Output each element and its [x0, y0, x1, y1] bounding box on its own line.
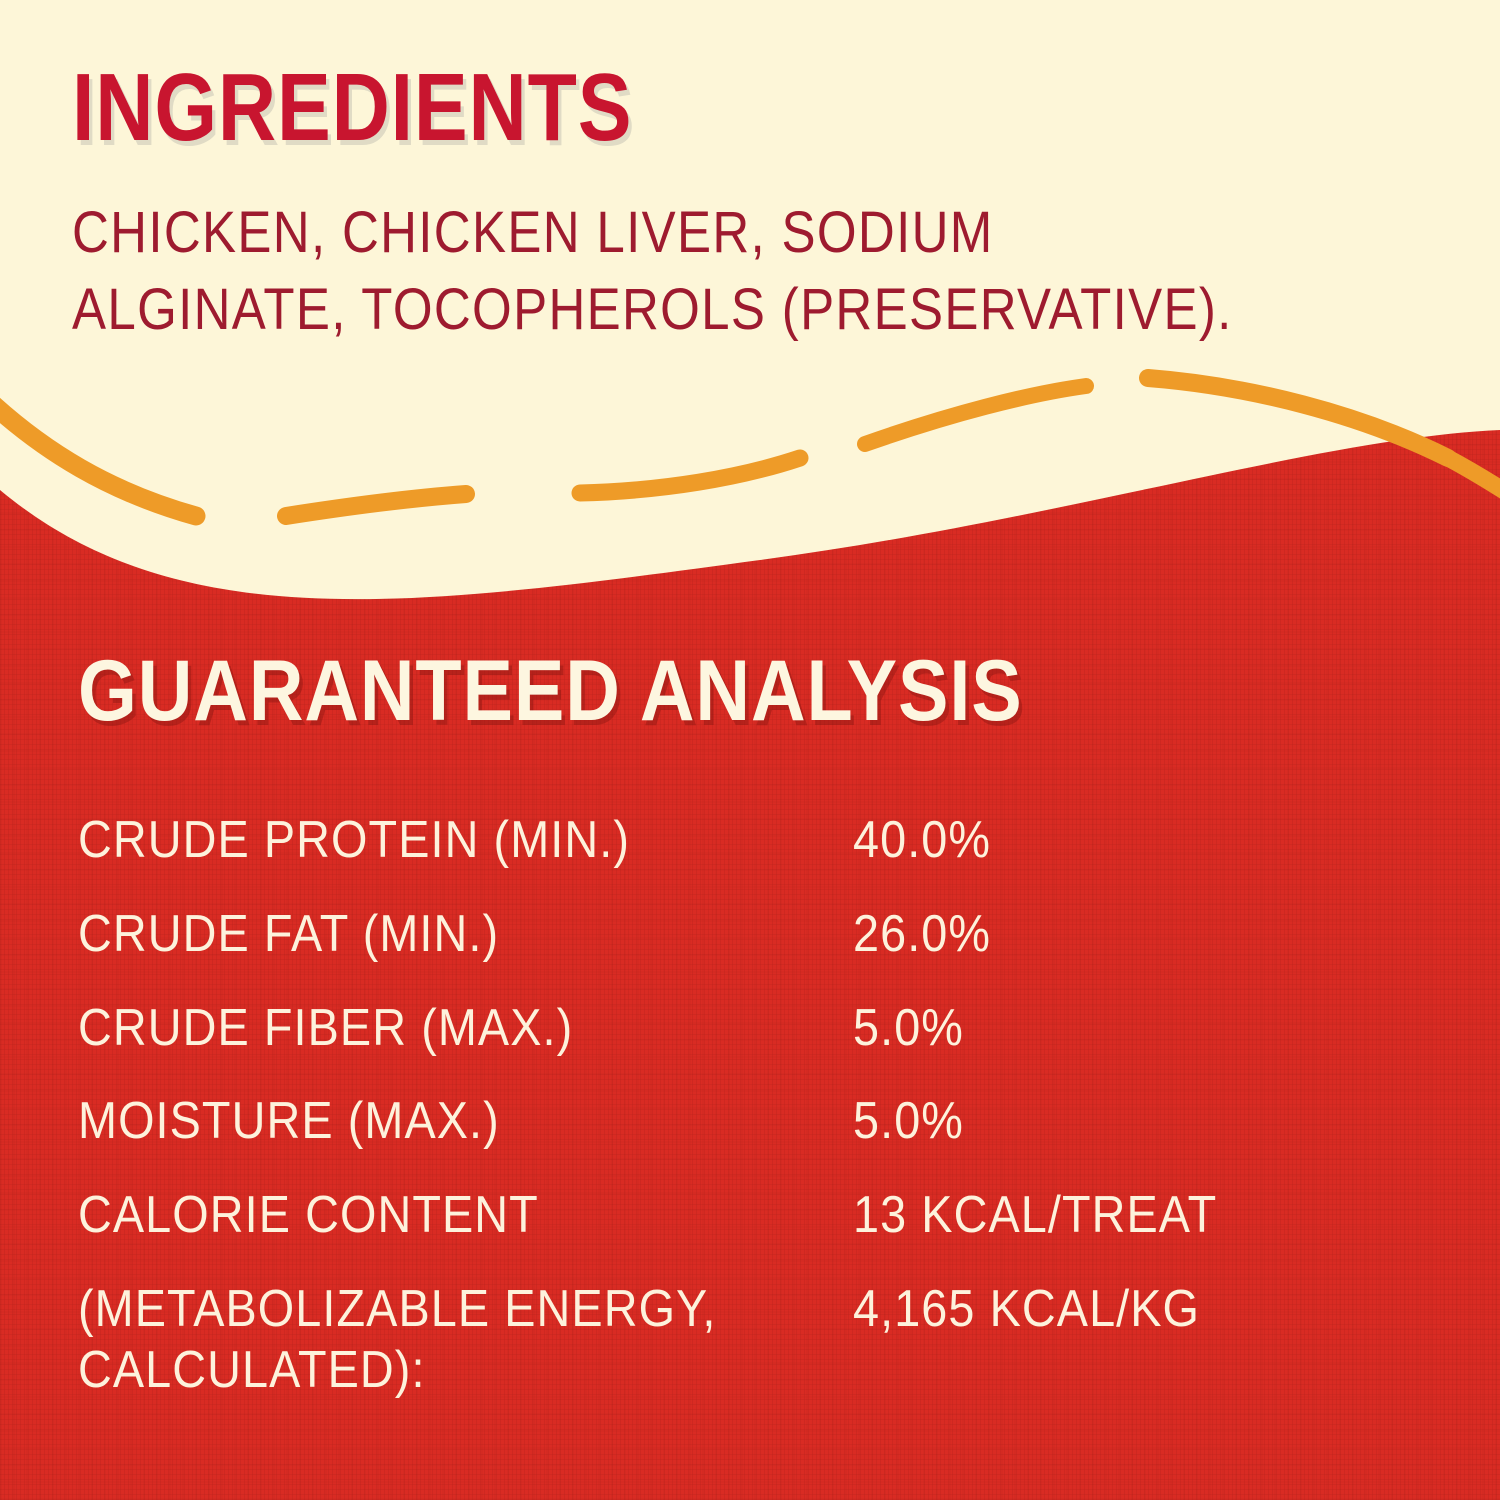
analysis-label-cell: (METABOLIZABLE ENERGY, CALCULATED):: [78, 1279, 853, 1401]
table-row: CALORIE CONTENT 13 KCAL/TREAT: [78, 1185, 1408, 1279]
analysis-value-text: 40.0%: [853, 810, 991, 871]
analysis-value-cell: 5.0%: [853, 998, 1408, 1092]
analysis-label-cell: CRUDE FIBER (MAX.): [78, 998, 853, 1092]
analysis-label-text: (METABOLIZABLE ENERGY, CALCULATED):: [78, 1279, 716, 1401]
analysis-value-cell: 5.0%: [853, 1091, 1408, 1185]
analysis-label-cell: MOISTURE (MAX.): [78, 1091, 853, 1185]
analysis-label-text: CALORIE CONTENT: [78, 1185, 539, 1246]
ingredients-text: CHICKEN, CHICKEN LIVER, SODIUM ALGINATE,…: [72, 194, 1267, 348]
analysis-value-text: 26.0%: [853, 904, 991, 965]
guaranteed-analysis-section: GUARANTEED ANALYSIS CRUDE PROTEIN (MIN.)…: [0, 648, 1500, 1401]
analysis-value-cell: 26.0%: [853, 904, 1408, 998]
table-row: MOISTURE (MAX.) 5.0%: [78, 1091, 1408, 1185]
analysis-label-text: CRUDE PROTEIN (MIN.): [78, 810, 630, 871]
analysis-label-text: CRUDE FAT (MIN.): [78, 904, 499, 965]
table-row: (METABOLIZABLE ENERGY, CALCULATED): 4,16…: [78, 1279, 1408, 1401]
analysis-label-cell: CRUDE PROTEIN (MIN.): [78, 810, 853, 904]
guaranteed-analysis-heading: GUARANTEED ANALYSIS: [78, 648, 1268, 734]
table-row: CRUDE FIBER (MAX.) 5.0%: [78, 998, 1408, 1092]
analysis-value-text: 13 KCAL/TREAT: [853, 1185, 1217, 1246]
ingredients-heading: INGREDIENTS: [72, 60, 1213, 156]
analysis-value-text: 5.0%: [853, 1091, 964, 1152]
analysis-label-text: MOISTURE (MAX.): [78, 1091, 500, 1152]
analysis-label-cell: CRUDE FAT (MIN.): [78, 904, 853, 998]
analysis-value-text: 4,165 KCAL/KG: [853, 1279, 1200, 1340]
table-row: CRUDE FAT (MIN.) 26.0%: [78, 904, 1408, 998]
table-row: CRUDE PROTEIN (MIN.) 40.0%: [78, 810, 1408, 904]
product-label-panel: INGREDIENTS CHICKEN, CHICKEN LIVER, SODI…: [0, 0, 1500, 1500]
ingredients-section: INGREDIENTS CHICKEN, CHICKEN LIVER, SODI…: [0, 0, 1500, 348]
guaranteed-analysis-table: CRUDE PROTEIN (MIN.) 40.0% CRUDE FAT (MI…: [78, 810, 1408, 1401]
analysis-table-body: CRUDE PROTEIN (MIN.) 40.0% CRUDE FAT (MI…: [78, 810, 1408, 1401]
analysis-label-text: CRUDE FIBER (MAX.): [78, 998, 573, 1059]
analysis-value-cell: 4,165 KCAL/KG: [853, 1279, 1408, 1401]
analysis-value-cell: 13 KCAL/TREAT: [853, 1185, 1408, 1279]
analysis-label-cell: CALORIE CONTENT: [78, 1185, 853, 1279]
analysis-value-cell: 40.0%: [853, 810, 1408, 904]
analysis-value-text: 5.0%: [853, 998, 964, 1059]
